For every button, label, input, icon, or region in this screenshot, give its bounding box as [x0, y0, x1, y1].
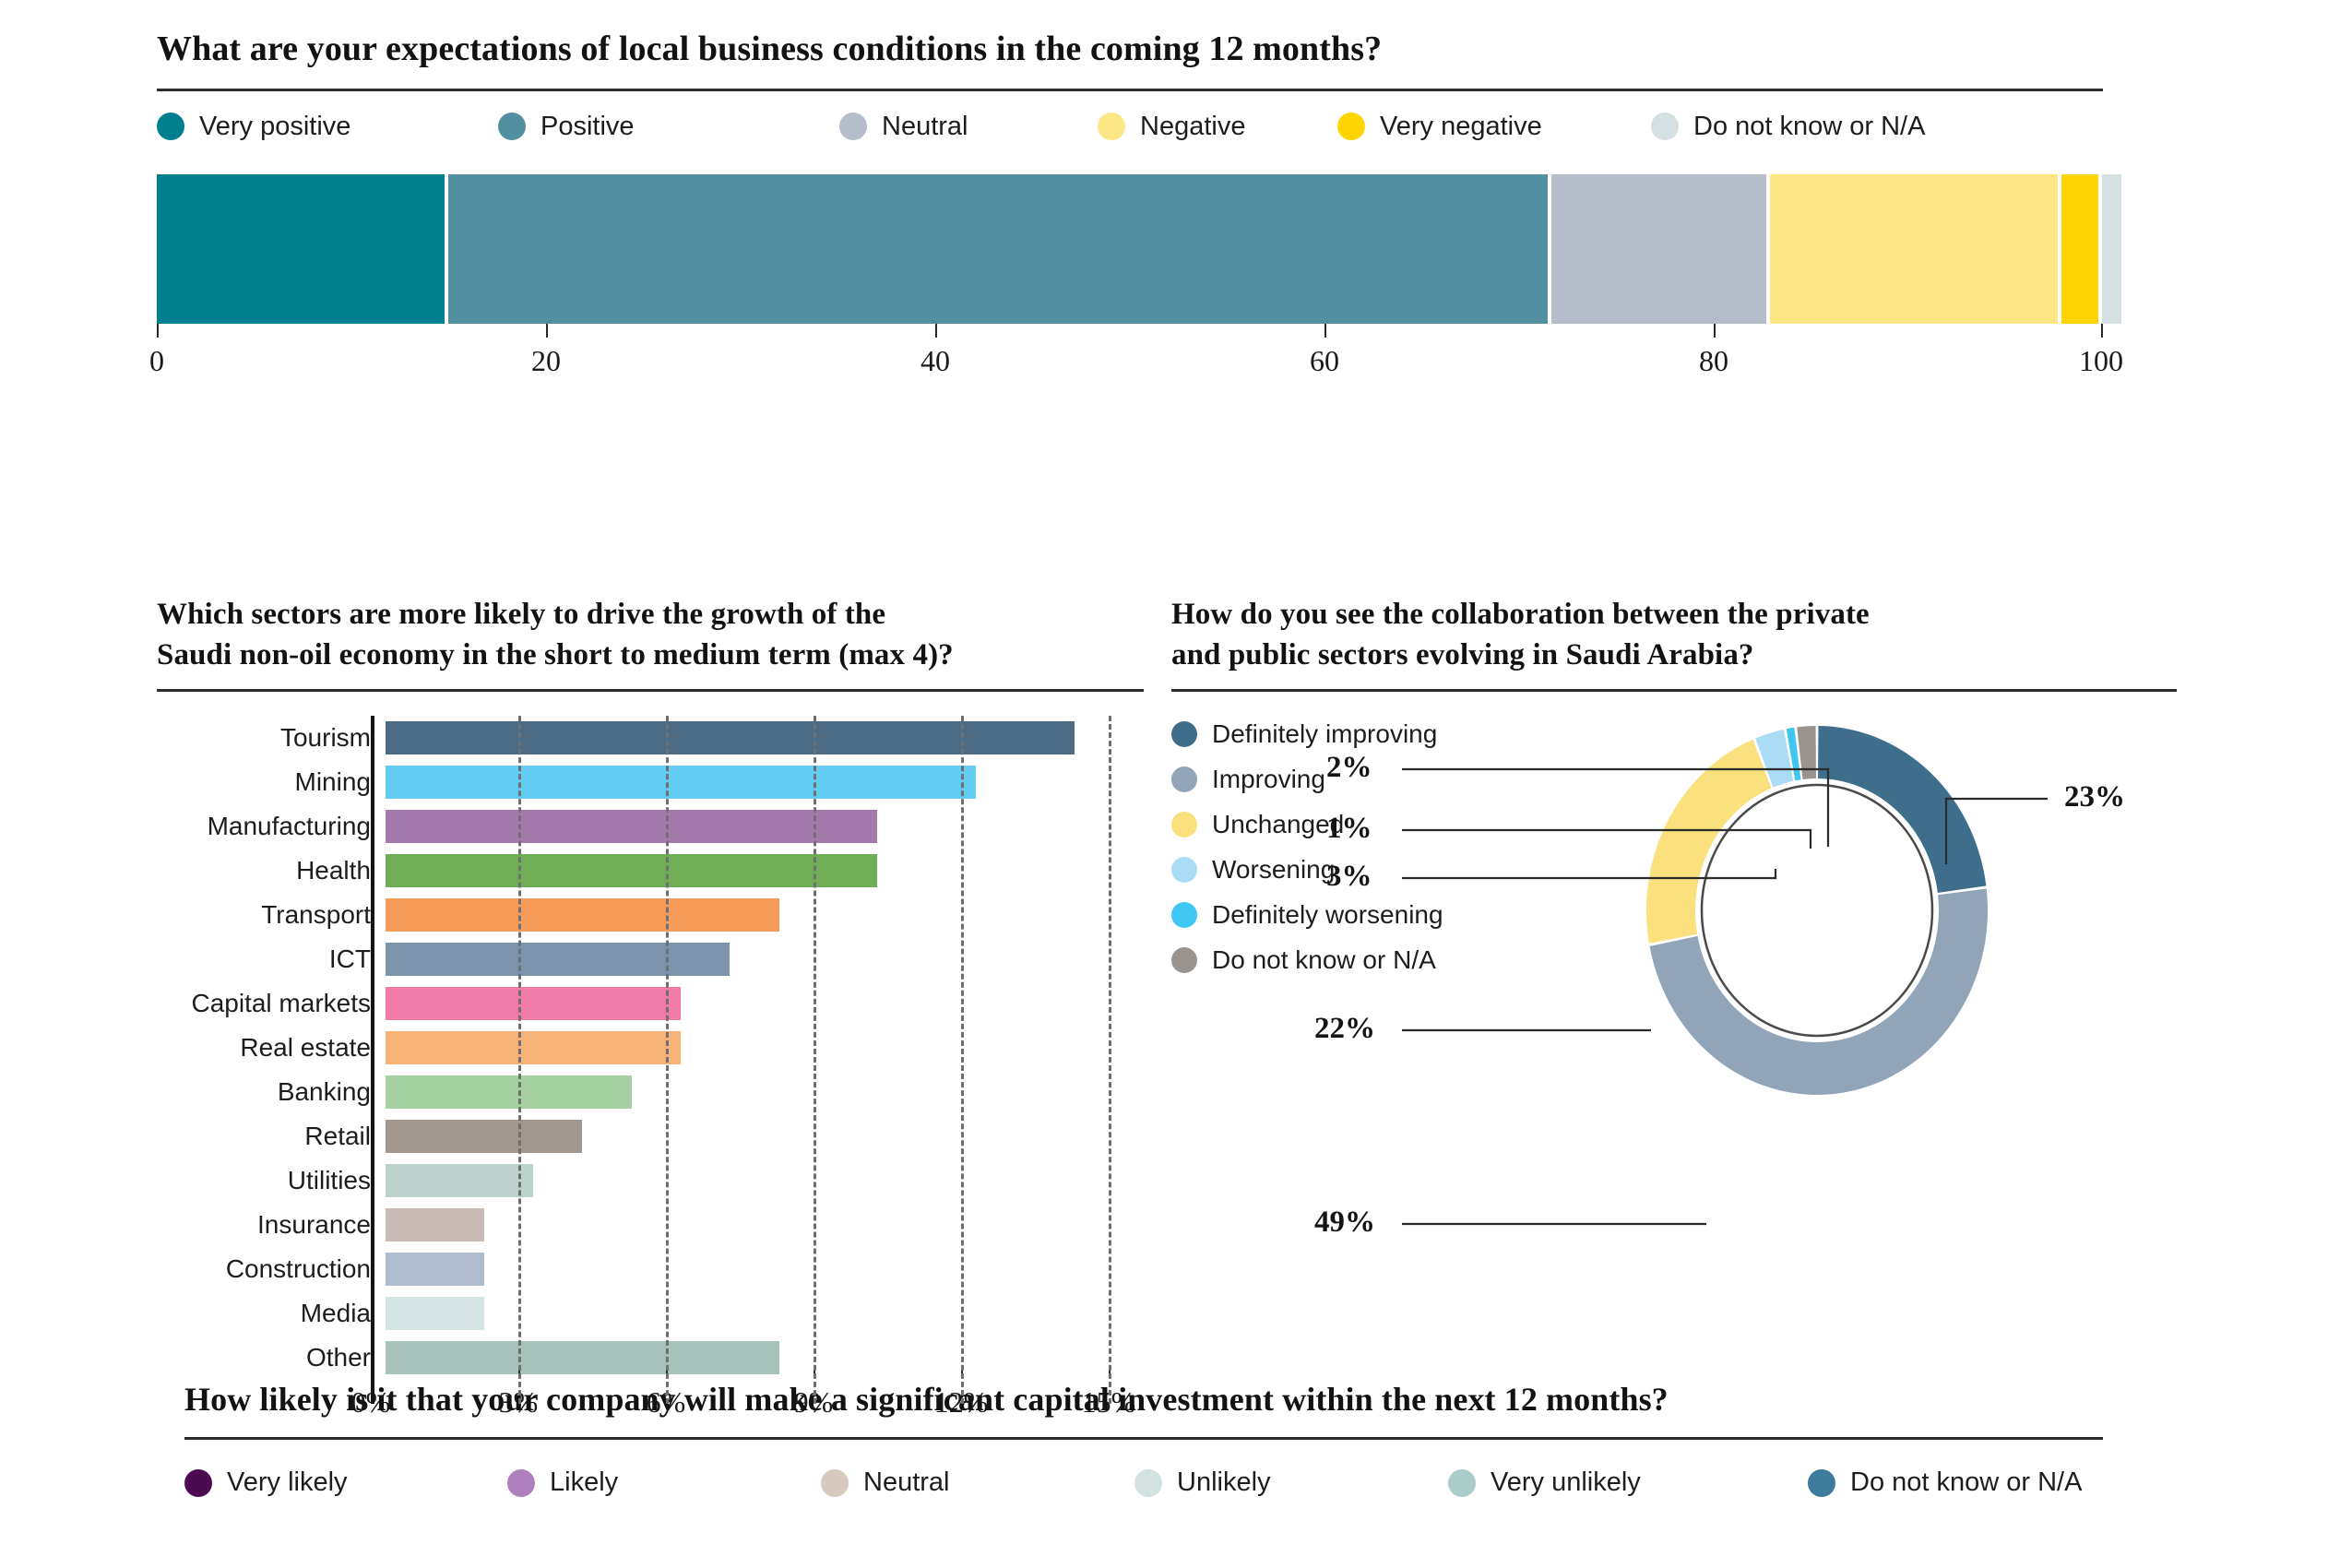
legend-swatch-icon [1651, 113, 1679, 140]
legend-capital-investment-label: Very unlikely [1491, 1467, 1641, 1498]
legend-business-conditions-label: Negative [1140, 112, 1245, 142]
donut-value-label-5: 2% [1326, 751, 1372, 785]
axis-tick [2101, 324, 2103, 338]
stacked-bar-segment-1[interactable] [448, 174, 1548, 324]
legend-business-conditions-item-3[interactable]: Negative [1098, 112, 1245, 142]
axis-tick-label: 40 [921, 344, 950, 378]
collaboration-panel: How do you see the collaboration between… [1171, 595, 2177, 1099]
donut-slice-5[interactable] [1797, 726, 1816, 779]
sector-label: Retail [157, 1122, 386, 1151]
sector-gridline [666, 716, 669, 1404]
axis-tick [1324, 324, 1326, 338]
sector-row[interactable]: Manufacturing [157, 804, 1144, 849]
donut-inner-ring [1702, 785, 1932, 1036]
capital-investment-legend: Very likelyLikelyNeutralUnlikelyVery unl… [184, 1467, 2103, 1510]
legend-business-conditions-item-2[interactable]: Neutral [839, 112, 968, 142]
sector-row[interactable]: Media [157, 1291, 1144, 1336]
donut-leader-line-3 [1402, 869, 1776, 878]
sector-gridline [814, 716, 816, 1404]
legend-swatch-icon [507, 1469, 535, 1497]
sector-bar-track [386, 716, 1144, 760]
legend-business-conditions-label: Positive [540, 112, 635, 142]
sector-bar[interactable] [386, 1297, 484, 1330]
sector-row[interactable]: Construction [157, 1247, 1144, 1291]
legend-capital-investment-item-2[interactable]: Neutral [821, 1467, 950, 1498]
collaboration-title-line1: How do you see the collaboration between… [1171, 595, 2177, 636]
sector-row[interactable]: Tourism [157, 716, 1144, 760]
sector-label: Real estate [157, 1033, 386, 1063]
sector-label: Mining [157, 767, 386, 797]
legend-capital-investment-label: Do not know or N/A [1850, 1467, 2082, 1498]
stacked-bar-segment-4[interactable] [2061, 174, 2098, 324]
donut-slice-1[interactable] [1650, 888, 1988, 1095]
legend-capital-investment-item-3[interactable]: Unlikely [1134, 1467, 1271, 1498]
sector-bar[interactable] [386, 898, 779, 932]
stacked-bar-segment-0[interactable] [157, 174, 445, 324]
sector-row[interactable]: Real estate [157, 1026, 1144, 1070]
axis-tick [157, 324, 159, 338]
sector-label: Health [157, 856, 386, 885]
sector-bar-track [386, 937, 1144, 981]
sector-bar-track [386, 1291, 1144, 1336]
donut-value-label-0: 23% [2064, 780, 2125, 814]
sector-bar[interactable] [386, 721, 1075, 754]
axis-tick [546, 324, 548, 338]
axis-tick-label: 100 [2079, 344, 2123, 378]
sector-row[interactable]: ICT [157, 937, 1144, 981]
legend-swatch-icon [157, 113, 184, 140]
donut-value-label-2: 22% [1314, 1012, 1375, 1046]
sector-bar-track [386, 760, 1144, 804]
growth-sectors-panel: Which sectors are more likely to drive t… [157, 595, 1144, 1435]
growth-sectors-divider [157, 689, 1144, 692]
sector-gridline [518, 716, 521, 1404]
legend-capital-investment-item-4[interactable]: Very unlikely [1448, 1467, 1641, 1498]
sector-row[interactable]: Other [157, 1336, 1144, 1380]
business-conditions-panel: What are your expectations of local busi… [157, 28, 2103, 388]
sector-label: Capital markets [157, 989, 386, 1018]
donut-value-label-1: 49% [1314, 1206, 1375, 1240]
donut-chart-area: Definitely improvingImprovingUnchangedWo… [1171, 712, 2177, 1099]
legend-capital-investment-item-1[interactable]: Likely [507, 1467, 618, 1498]
donut-slice-0[interactable] [1818, 726, 1986, 893]
legend-business-conditions-item-1[interactable]: Positive [498, 112, 635, 142]
sector-bar-track [386, 804, 1144, 849]
sector-bar[interactable] [386, 1075, 632, 1109]
axis-tick-label: 20 [531, 344, 561, 378]
legend-swatch-icon [1134, 1469, 1162, 1497]
sector-row[interactable]: Insurance [157, 1203, 1144, 1247]
sector-bar-track [386, 1070, 1144, 1114]
donut-value-label-4: 1% [1326, 812, 1372, 846]
sector-row[interactable]: Banking [157, 1070, 1144, 1114]
sector-bar[interactable] [386, 1253, 484, 1286]
stacked-bar-segment-5[interactable] [2102, 174, 2121, 324]
sector-bar-chart: TourismMiningManufacturingHealthTranspor… [157, 716, 1144, 1435]
legend-swatch-icon [1098, 113, 1125, 140]
legend-capital-investment-label: Neutral [863, 1467, 950, 1498]
legend-swatch-icon [184, 1469, 212, 1497]
legend-capital-investment-label: Unlikely [1177, 1467, 1271, 1498]
sector-label: Other [157, 1343, 386, 1372]
sector-bar-track [386, 1247, 1144, 1291]
sector-label: Transport [157, 900, 386, 930]
sector-bar[interactable] [386, 854, 877, 887]
legend-business-conditions-item-0[interactable]: Very positive [157, 112, 350, 142]
growth-sectors-title: Which sectors are more likely to drive t… [157, 595, 1144, 676]
legend-capital-investment-item-0[interactable]: Very likely [184, 1467, 348, 1498]
growth-sectors-title-line2: Saudi non-oil economy in the short to me… [157, 636, 1144, 676]
stacked-bar-segment-2[interactable] [1551, 174, 1765, 324]
sector-bar-track [386, 1203, 1144, 1247]
sector-bar[interactable] [386, 1164, 533, 1197]
capital-investment-title: How likely is it that your company will … [184, 1379, 2103, 1420]
legend-swatch-icon [1808, 1469, 1835, 1497]
legend-capital-investment-label: Very likely [227, 1467, 348, 1498]
sector-row[interactable]: Mining [157, 760, 1144, 804]
capital-investment-panel: How likely is it that your company will … [184, 1379, 2103, 1510]
title-divider [157, 89, 2103, 91]
stacked-bar-chart: 020406080100 [157, 174, 2103, 388]
sector-label: Media [157, 1299, 386, 1328]
legend-swatch-icon [1337, 113, 1365, 140]
capital-investment-divider [184, 1437, 2103, 1440]
axis-tick-label: 80 [1699, 344, 1728, 378]
page-title: What are your expectations of local busi… [157, 28, 2103, 72]
sector-row[interactable]: Retail [157, 1114, 1144, 1158]
sector-row[interactable]: Transport [157, 893, 1144, 937]
sector-row[interactable]: Health [157, 849, 1144, 893]
business-conditions-legend: Very positivePositiveNeutralNegativeVery… [157, 112, 2103, 154]
sector-row[interactable]: Capital markets [157, 981, 1144, 1026]
sector-label: Manufacturing [157, 812, 386, 841]
axis-tick [935, 324, 937, 338]
sector-bar[interactable] [386, 766, 976, 799]
sector-rows: TourismMiningManufacturingHealthTranspor… [157, 716, 1144, 1380]
sector-bar[interactable] [386, 1120, 582, 1153]
sector-label: Tourism [157, 723, 386, 753]
sector-bar[interactable] [386, 943, 730, 976]
sector-bar[interactable] [386, 987, 681, 1020]
sector-label: ICT [157, 944, 386, 974]
legend-swatch-icon [839, 113, 867, 140]
legend-capital-investment-label: Likely [550, 1467, 618, 1498]
legend-business-conditions-label: Very negative [1380, 112, 1542, 142]
sector-label: Construction [157, 1254, 386, 1284]
legend-business-conditions-item-5[interactable]: Do not know or N/A [1651, 112, 1925, 142]
sector-label: Utilities [157, 1166, 386, 1195]
axis-tick-label: 0 [149, 344, 164, 378]
sector-label: Banking [157, 1077, 386, 1107]
legend-swatch-icon [821, 1469, 849, 1497]
sector-bar[interactable] [386, 1341, 779, 1374]
stacked-bar-segment-3[interactable] [1770, 174, 2058, 324]
legend-business-conditions-label: Very positive [199, 112, 350, 142]
sector-bar[interactable] [386, 810, 877, 843]
legend-business-conditions-item-4[interactable]: Very negative [1337, 112, 1542, 142]
collaboration-divider [1171, 689, 2177, 692]
axis-tick [1714, 324, 1716, 338]
sector-row[interactable]: Utilities [157, 1158, 1144, 1203]
growth-sectors-title-line1: Which sectors are more likely to drive t… [157, 595, 1144, 636]
legend-swatch-icon [1448, 1469, 1476, 1497]
legend-business-conditions-label: Neutral [882, 112, 968, 142]
collaboration-title-line2: and public sectors evolving in Saudi Ara… [1171, 636, 2177, 676]
sector-bar-track [386, 1158, 1144, 1203]
axis-tick-label: 60 [1310, 344, 1339, 378]
sector-bar-track [386, 1336, 1144, 1380]
sector-bar[interactable] [386, 1031, 681, 1064]
sector-label: Insurance [157, 1210, 386, 1240]
sector-bar[interactable] [386, 1208, 484, 1241]
legend-capital-investment-item-5[interactable]: Do not know or N/A [1808, 1467, 2082, 1498]
sector-bar-track [386, 893, 1144, 937]
sector-axis-line [371, 716, 374, 1404]
stacked-bar-axis: 020406080100 [157, 324, 2103, 388]
stacked-bar-track [157, 174, 2103, 324]
sector-bar-track [386, 981, 1144, 1026]
sector-bar-track [386, 1026, 1144, 1070]
donut-value-label-3: 3% [1326, 860, 1372, 894]
sector-gridline [1109, 716, 1111, 1404]
sector-bar-track [386, 849, 1144, 893]
legend-business-conditions-label: Do not know or N/A [1693, 112, 1925, 142]
legend-swatch-icon [498, 113, 526, 140]
sector-bar-track [386, 1114, 1144, 1158]
sector-gridline [961, 716, 964, 1404]
collaboration-title: How do you see the collaboration between… [1171, 595, 2177, 676]
donut-leader-line-2 [1402, 830, 1811, 849]
